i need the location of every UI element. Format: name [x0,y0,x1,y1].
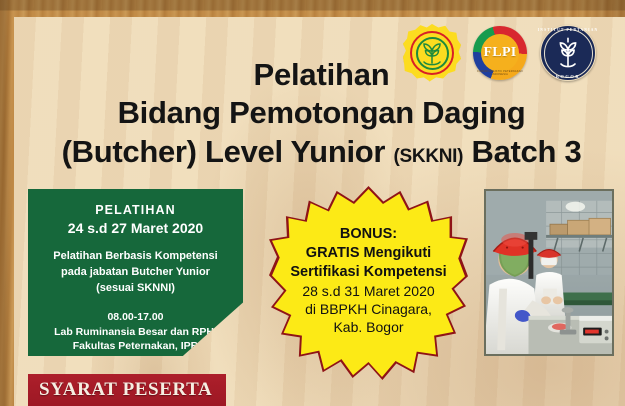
bonus-line-1: BONUS: [272,225,465,244]
training-description-line-2: pada jabatan Butcher Yunior [36,265,235,281]
ipb-logo-icon: INSTITUT PERTANIAN BOGOR [537,22,599,84]
bonus-text-block: BONUS: GRATIS Mengikuti Sertifikasi Komp… [272,225,465,336]
training-venue-line-1: Lab Ruminansia Besar dan RPH, [36,325,235,340]
training-time: 08.00-17.00 [36,310,235,325]
flpi-logo-icon: FLPI FORUM LOGISTIK PETERNAKAN INDONESIA [469,22,531,84]
flpi-logo-text: FLPI [483,45,516,61]
training-description: Pelatihan Berbasis Kompetensi pada jabat… [36,249,235,297]
training-description-line-1: Pelatihan Berbasis Kompetensi [36,249,235,265]
bonus-starburst-badge: BONUS: GRATIS Mengikuti Sertifikasi Komp… [272,189,465,377]
syarat-peserta-bar: SYARAT PESERTA [28,374,226,406]
ipb-logo-text-bottom: BOGOR [537,74,599,79]
flyer-card: FLPI FORUM LOGISTIK PETERNAKAN INDONESIA… [14,17,625,406]
ipb-torch-glyph [554,36,582,69]
title-line-3: (Butcher) Level Yunior (SKKNI) Batch 3 [36,136,607,168]
training-heading: PELATIHAN [36,203,235,217]
bonus-line-5: di BBPKH Cinagara, [272,300,465,318]
title-skkni-note: (SKKNI) [394,146,464,167]
flpi-logo-subtext: FORUM LOGISTIK PETERNAKAN INDONESIA [469,70,531,76]
bonus-line-6: Kab. Bogor [272,318,465,336]
bonus-line-3: Sertifikasi Kompetensi [272,263,465,282]
training-description-line-3: (sesuai SKNNI) [36,281,235,297]
photo-illustration [486,191,612,354]
bonus-line-2: GRATIS Mengikuti [272,244,465,263]
logo-row: FLPI FORUM LOGISTIK PETERNAKAN INDONESIA… [401,22,599,84]
training-details-panel: PELATIHAN 24 s.d 27 Maret 2020 Pelatihan… [28,189,243,356]
plant-glyph [417,38,447,68]
title-line-2: Bidang Pemotongan Daging [36,97,607,129]
training-logistics: 08.00-17.00 Lab Ruminansia Besar dan RPH… [36,310,235,354]
kementerian-pertanian-seal-icon [401,22,463,84]
training-dates: 24 s.d 27 Maret 2020 [36,220,235,236]
butcher-training-photo [484,189,614,356]
title-line-3-main: (Butcher) Level Yunior [62,134,386,169]
training-venue-line-2: Fakultas Peternakan, IPB [36,339,235,354]
syarat-peserta-label: SYARAT PESERTA [39,379,212,401]
ipb-logo-text-top: INSTITUT PERTANIAN [537,28,599,32]
title-batch: Batch 3 [472,134,582,169]
bonus-line-4: 28 s.d 31 Maret 2020 [272,282,465,300]
